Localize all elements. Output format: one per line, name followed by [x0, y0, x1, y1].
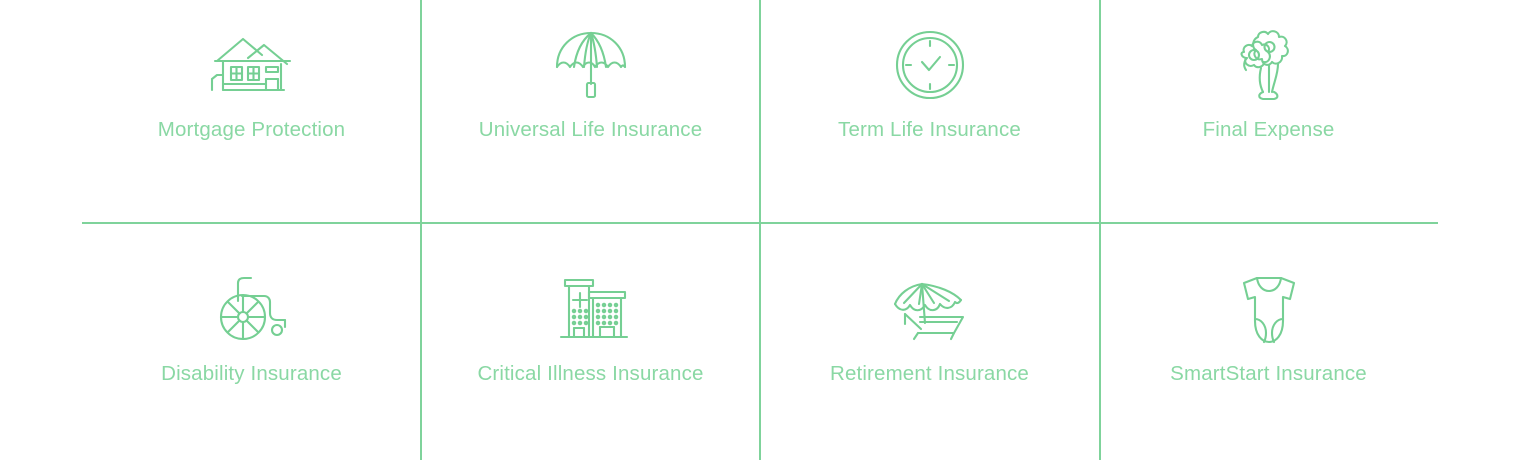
product-tile-critical-illness-insurance[interactable]: Critical Illness Insurance	[421, 222, 760, 460]
product-tile-smartstart-insurance[interactable]: SmartStart Insurance	[1099, 222, 1438, 460]
product-tile-label: Mortgage Protection	[158, 118, 345, 142]
clock-icon	[887, 26, 973, 104]
product-tile-mortgage-protection[interactable]: Mortgage Protection	[82, 0, 421, 222]
product-tile-retirement-insurance[interactable]: Retirement Insurance	[760, 222, 1099, 460]
product-tile-label: Term Life Insurance	[838, 118, 1021, 142]
product-tile-label: Universal Life Insurance	[479, 118, 703, 142]
flower-bouquet-icon	[1226, 26, 1312, 104]
product-tile-label: SmartStart Insurance	[1170, 362, 1367, 386]
beach-lounger-icon	[887, 270, 973, 348]
umbrella-icon	[548, 26, 634, 104]
hospital-building-icon	[548, 270, 634, 348]
product-tile-label: Final Expense	[1203, 118, 1335, 142]
product-tile-final-expense[interactable]: Final Expense	[1099, 0, 1438, 222]
baby-onesie-icon	[1226, 270, 1312, 348]
house-icon	[209, 26, 295, 104]
product-tile-grid: Mortgage Protection Universal Life Insur…	[82, 0, 1438, 460]
product-tile-universal-life-insurance[interactable]: Universal Life Insurance	[421, 0, 760, 222]
insurance-products-grid: Mortgage Protection Universal Life Insur…	[0, 0, 1536, 460]
product-tile-label: Retirement Insurance	[830, 362, 1029, 386]
product-tile-disability-insurance[interactable]: Disability Insurance	[82, 222, 421, 460]
product-tile-label: Critical Illness Insurance	[477, 362, 703, 386]
wheelchair-icon	[209, 270, 295, 348]
product-tile-term-life-insurance[interactable]: Term Life Insurance	[760, 0, 1099, 222]
product-tile-label: Disability Insurance	[161, 362, 342, 386]
